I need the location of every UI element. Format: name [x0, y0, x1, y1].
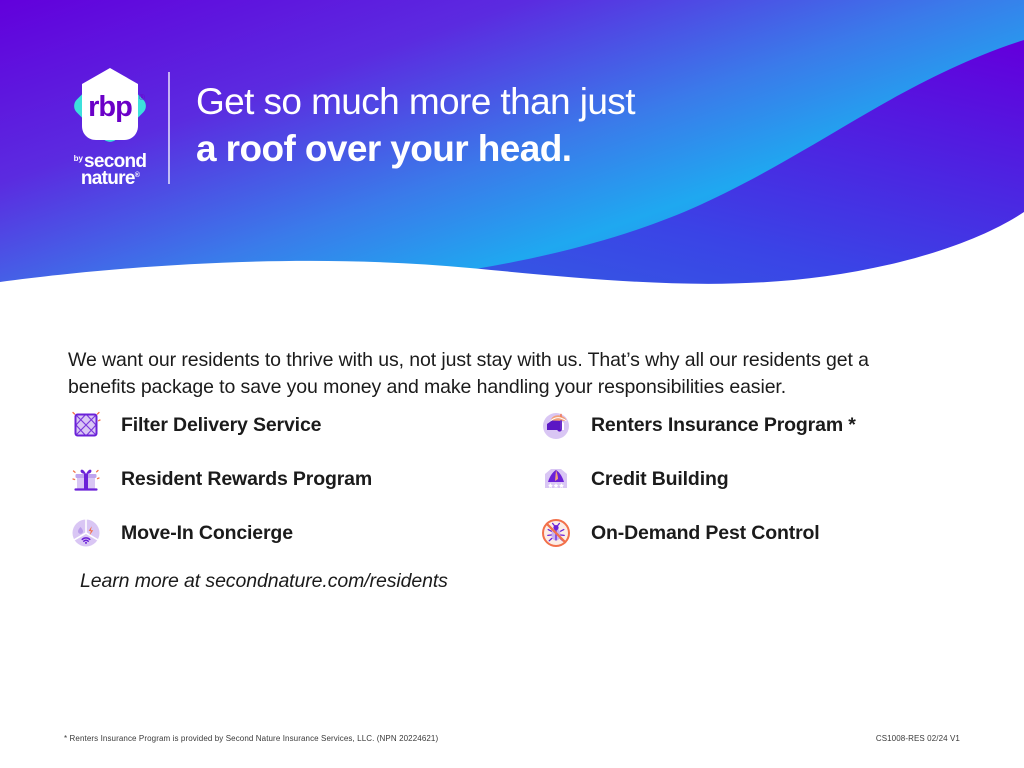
gift-icon — [64, 457, 108, 501]
svg-text:rbp: rbp — [88, 91, 132, 123]
brand-logo-lockup: rbp ® bysecond nature® — [58, 58, 162, 188]
benefit-label: Renters Insurance Program * — [591, 414, 856, 437]
benefit-item-resident-rewards-program: Resident Rewards Program — [64, 452, 534, 506]
umbrella-house-icon — [534, 403, 578, 447]
svg-text:®: ® — [139, 93, 145, 102]
credit-badge-icon — [534, 457, 578, 501]
utilities-circle-icon — [64, 511, 108, 555]
learn-more-text: Learn more at secondnature.com/residents — [80, 570, 448, 593]
benefit-label: Credit Building — [591, 468, 729, 491]
filter-icon — [64, 403, 108, 447]
benefit-item-move-in-concierge: Move-In Concierge — [64, 506, 534, 560]
benefit-item-filter-delivery-service: Filter Delivery Service — [64, 398, 534, 452]
benefit-item-renters-insurance-program: Renters Insurance Program * — [534, 398, 944, 452]
benefit-item-on-demand-pest-control: On-Demand Pest Control — [534, 506, 944, 560]
wordmark-nature: nature® — [58, 169, 162, 188]
benefit-item-credit-building: Credit Building — [534, 452, 944, 506]
no-pest-icon — [534, 511, 578, 555]
page-title: Get so much more than just a roof over y… — [196, 78, 635, 172]
footer-document-code: CS1008-RES 02/24 V1 — [876, 734, 960, 743]
footer-disclaimer: * Renters Insurance Program is provided … — [64, 734, 438, 743]
headline-line-1: Get so much more than just — [196, 78, 635, 125]
benefit-label: Filter Delivery Service — [121, 414, 321, 437]
intro-paragraph: We want our residents to thrive with us,… — [68, 347, 938, 401]
headline-line-2: a roof over your head. — [196, 125, 635, 172]
benefits-list: Filter Delivery Service Renters Insuranc… — [64, 398, 944, 560]
benefit-label: Resident Rewards Program — [121, 468, 372, 491]
second-nature-wordmark: bysecond nature® — [58, 152, 162, 188]
benefit-label: Move-In Concierge — [121, 522, 293, 545]
rbp-logo-icon: rbp ® — [62, 58, 158, 154]
benefit-label: On-Demand Pest Control — [591, 522, 820, 545]
wordmark-by: by — [74, 155, 83, 163]
logo-divider — [168, 72, 170, 184]
